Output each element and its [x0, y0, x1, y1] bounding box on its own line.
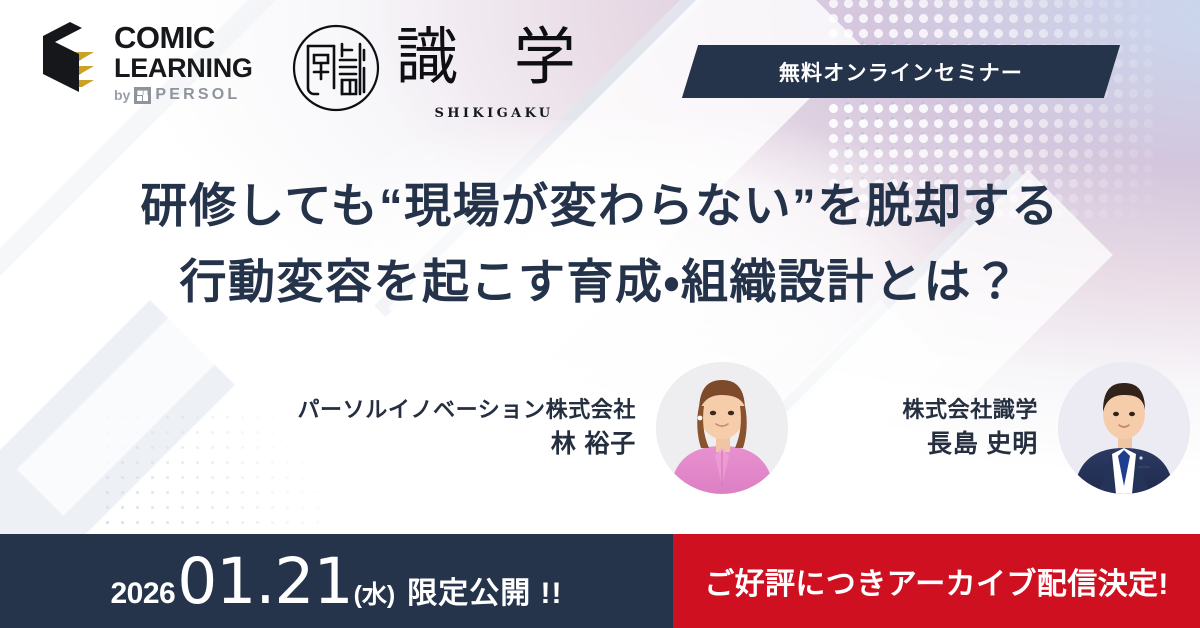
speaker-nagashima-company: 株式会社識学 — [800, 393, 1038, 426]
speaker-nagashima-text: 株式会社識学 長島 史明 — [800, 393, 1058, 464]
speakers-section: パーソルイノベーション株式会社 林 裕子 — [0, 362, 1200, 520]
footer-bar: 2026 01.21 (水) 限定公開 !! ご好評につきアーカイブ配信決定! — [0, 534, 1200, 628]
speaker-hayashi: パーソルイノベーション株式会社 林 裕子 — [268, 362, 788, 494]
headline-line-1: 研修しても“現場が変わらない”を脱却する — [0, 168, 1200, 244]
speaker-hayashi-name: 林 裕子 — [268, 426, 636, 464]
event-date-suffix: 限定公開 !! — [407, 568, 562, 612]
headline-line-2: 行動変容を起こす育成・組織設計とは？ — [0, 244, 1200, 320]
speaker-hayashi-text: パーソルイノベーション株式会社 林 裕子 — [268, 393, 656, 464]
speaker-photo-hayashi — [656, 362, 788, 494]
shikigaku-roman: SHIKIGAKU — [410, 106, 578, 121]
footer-cta-label: ご好評につきアーカイブ配信決定! — [704, 559, 1169, 603]
footer-date-panel: 2026 01.21 (水) 限定公開 !! — [0, 534, 673, 628]
speaker-photo-hayashi-image — [656, 362, 788, 494]
footer-cta-panel[interactable]: ご好評につきアーカイブ配信決定! — [673, 534, 1200, 628]
shikigaku-kanji: 識 学 — [396, 22, 594, 91]
free-online-seminar-badge: 無料オンラインセミナー — [682, 45, 1120, 98]
speaker-photo-nagashima — [1058, 362, 1190, 494]
event-monthday: 01.21 — [177, 545, 352, 618]
badge-label: 無料オンラインセミナー — [779, 57, 1023, 87]
comic-learning-line2: LEARNING — [114, 53, 269, 83]
headline: 研修しても“現場が変わらない”を脱却する 行動変容を起こす育成・組織設計とは？ — [0, 168, 1200, 320]
speaker-photo-nagashima-image — [1058, 362, 1190, 494]
speaker-hayashi-company: パーソルイノベーション株式会社 — [268, 393, 636, 426]
shikigaku-seal-icon — [292, 24, 380, 112]
speaker-nagashima-name: 長島 史明 — [800, 426, 1038, 464]
seminar-banner: COMIC LEARNING by PERSOL — [0, 0, 1200, 628]
event-date: 2026 01.21 (水) 限定公開 !! — [110, 545, 562, 618]
comic-learning-by-label: by — [114, 87, 130, 103]
persol-mark-icon — [134, 87, 151, 104]
persol-wordmark: PERSOL — [155, 86, 240, 104]
speaker-nagashima: 株式会社識学 長島 史明 — [800, 362, 1190, 494]
event-year: 2026 — [110, 577, 175, 611]
comic-learning-logo: COMIC LEARNING by PERSOL — [42, 22, 267, 117]
comic-learning-line1: COMIC — [114, 22, 269, 53]
logo-row: COMIC LEARNING by PERSOL — [0, 0, 620, 140]
event-day-of-week: (水) — [354, 575, 396, 611]
comic-learning-mark-icon — [42, 22, 102, 97]
shikigaku-logo: 識 学 SHIKIGAKU — [292, 24, 582, 116]
comic-learning-wordmark: COMIC LEARNING by PERSOL — [114, 22, 269, 104]
